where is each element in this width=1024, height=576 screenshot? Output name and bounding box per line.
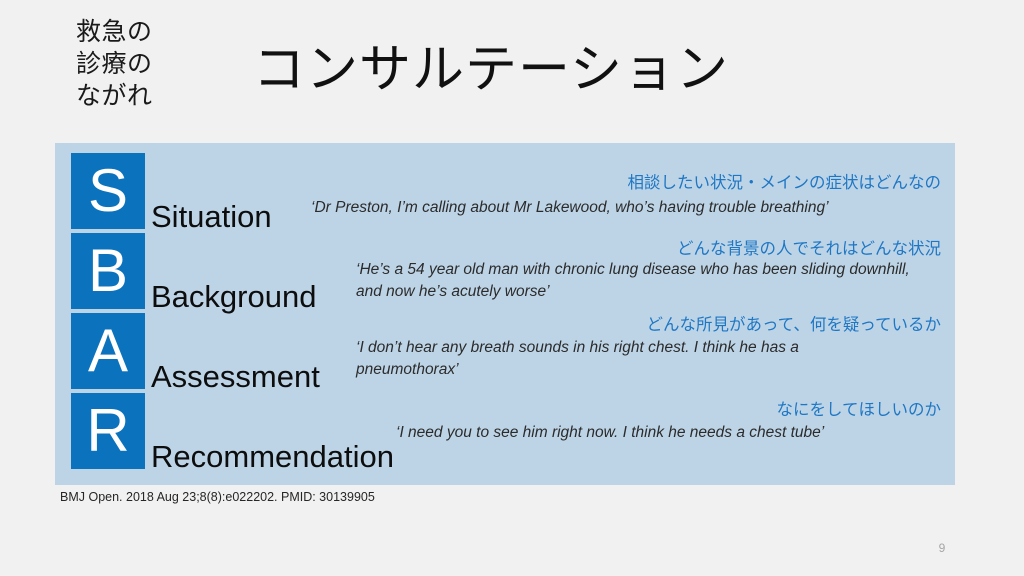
sbar-label-background: Background xyxy=(151,281,316,312)
sbar-quote-background: ‘He’s a 54 year old man with chronic lun… xyxy=(356,259,936,303)
sbar-letter-tile-b: B xyxy=(71,233,145,309)
slide: 救急の 診療の ながれ コンサルテーション S Situation 相談したい状… xyxy=(0,0,1024,576)
sbar-panel: S Situation 相談したい状況・メインの症状はどんなの ‘Dr Pres… xyxy=(55,143,955,485)
sbar-letter-tile-s: S xyxy=(71,153,145,229)
page-number: 9 xyxy=(930,541,954,555)
sbar-label-situation: Situation xyxy=(151,201,272,232)
sbar-row-background: B Background どんな背景の人でそれはどんな状況 ‘He’s a 54… xyxy=(55,233,955,309)
sbar-row-situation: S Situation 相談したい状況・メインの症状はどんなの ‘Dr Pres… xyxy=(55,153,955,229)
sbar-text-situation: 相談したい状況・メインの症状はどんなの ‘Dr Preston, I’m cal… xyxy=(311,153,941,229)
sbar-letter-tile-r: R xyxy=(71,393,145,469)
sbar-text-recommendation: なにをしてほしいのか ‘I need you to see him right … xyxy=(396,393,941,469)
page-title: コンサルテーション xyxy=(253,42,729,98)
sbar-jp-note-situation: 相談したい状況・メインの症状はどんなの xyxy=(628,173,942,194)
section-corner-label: 救急の 診療の ながれ xyxy=(76,16,196,112)
sbar-label-recommendation: Recommendation xyxy=(151,441,394,472)
source-citation: BMJ Open. 2018 Aug 23;8(8):e022202. PMID… xyxy=(60,490,375,505)
sbar-quote-recommendation: ‘I need you to see him right now. I thin… xyxy=(396,422,896,444)
sbar-jp-note-recommendation: なにをしてほしいのか xyxy=(776,400,941,421)
sbar-text-assessment: どんな所見があって、何を疑っているか ‘I don’t hear any bre… xyxy=(356,313,941,389)
sbar-text-background: どんな背景の人でそれはどんな状況 ‘He’s a 54 year old man… xyxy=(356,233,941,309)
sbar-jp-note-background: どんな背景の人でそれはどんな状況 xyxy=(677,239,941,260)
sbar-letter-tile-a: A xyxy=(71,313,145,389)
sbar-label-assessment: Assessment xyxy=(151,361,320,392)
sbar-row-assessment: A Assessment どんな所見があって、何を疑っているか ‘I don’t… xyxy=(55,313,955,389)
sbar-quote-situation: ‘Dr Preston, I’m calling about Mr Lakewo… xyxy=(311,197,941,219)
sbar-row-recommendation: R Recommendation なにをしてほしいのか ‘I need you … xyxy=(55,393,955,469)
sbar-jp-note-assessment: どんな所見があって、何を疑っているか xyxy=(646,315,941,336)
sbar-quote-assessment: ‘I don’t hear any breath sounds in his r… xyxy=(356,337,896,381)
